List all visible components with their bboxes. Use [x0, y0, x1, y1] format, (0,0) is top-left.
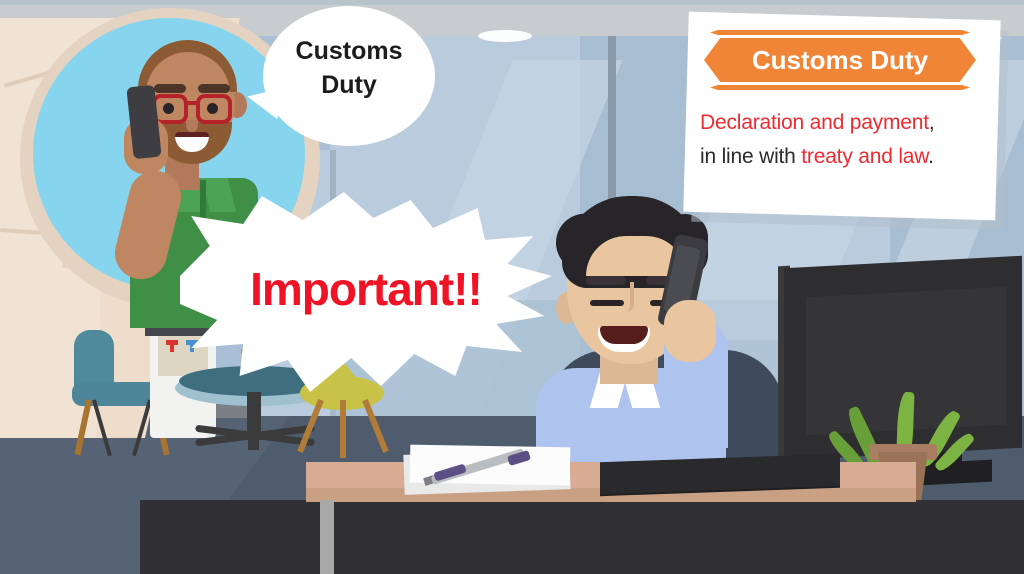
- speech-bubble-line-2: Duty: [263, 68, 435, 102]
- glasses-bridge: [186, 101, 198, 105]
- illustration-canvas: Customs Duty Important!!: [0, 0, 1024, 574]
- whiteboard-line-2-tail: .: [928, 145, 934, 168]
- worker-hand: [664, 300, 716, 362]
- whiteboard-line-1-highlight: Declaration and payment: [700, 111, 929, 134]
- speech-bubble-text: Customs Duty: [263, 34, 435, 102]
- caller-eyebrow: [198, 84, 230, 93]
- glasses-icon: [196, 94, 232, 124]
- ribbon-accent-line: [710, 85, 970, 90]
- ribbon-banner-label: Customs Duty: [704, 45, 976, 76]
- whiteboard-line-2-highlight: treaty and law: [801, 145, 928, 168]
- whiteboard-body-text: Declaration and payment, in line with tr…: [700, 106, 990, 174]
- important-burst-text: Important!!: [180, 262, 552, 316]
- desk-leg: [320, 500, 334, 574]
- ceiling-edge: [0, 0, 1024, 5]
- hot-tap-icon[interactable]: [170, 343, 174, 352]
- whiteboard-line-1: Declaration and payment,: [700, 106, 990, 140]
- whiteboard-line-2: in line with treaty and law.: [700, 140, 990, 174]
- worker-nose: [618, 282, 634, 312]
- stool-leg: [340, 400, 346, 458]
- whiteboard-line-1-tail: ,: [929, 111, 935, 134]
- worker-mouth-open: [600, 326, 648, 344]
- whiteboard-line-2-lead: in line with: [700, 145, 801, 168]
- ribbon-accent-line: [710, 30, 970, 35]
- caller-eyebrow: [154, 84, 186, 93]
- desk-shadow: [140, 500, 1024, 574]
- ceiling-light-icon: [478, 30, 532, 42]
- caller-nose: [186, 120, 198, 132]
- speech-bubble-line-1: Customs: [263, 34, 435, 68]
